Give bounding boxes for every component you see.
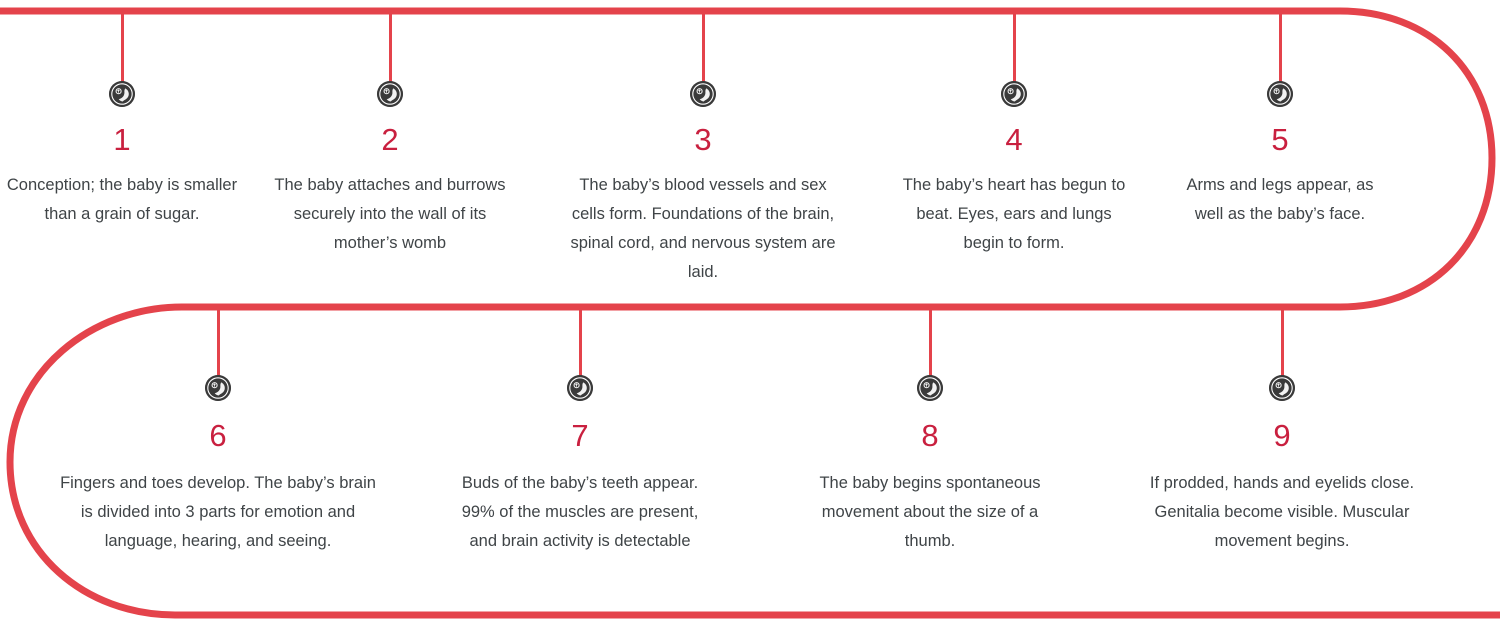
- connector-stem: [702, 11, 705, 83]
- step-number: 8: [800, 419, 1060, 453]
- fetus-icon: [1269, 375, 1295, 401]
- connector-stem: [1013, 11, 1016, 83]
- fetus-icon: [690, 81, 716, 107]
- step-number: 6: [58, 419, 378, 453]
- step-number: 2: [270, 123, 510, 157]
- fetus-icon: [377, 81, 403, 107]
- connector-stem: [579, 307, 582, 377]
- timeline-infographic: 1 Conception; the baby is smaller than a…: [0, 0, 1500, 625]
- fetus-icon: [109, 81, 135, 107]
- step-description: Buds of the baby’s teeth appear. 99% of …: [446, 469, 714, 556]
- fetus-icon: [917, 375, 943, 401]
- fetus-icon: [205, 375, 231, 401]
- step-number: 7: [446, 419, 714, 453]
- step-number: 5: [1170, 123, 1390, 157]
- step-description: The baby begins spontaneous movement abo…: [800, 469, 1060, 556]
- fetus-icon: [1001, 81, 1027, 107]
- step-description: The baby’s blood vessels and sex cells f…: [562, 171, 844, 287]
- step-description: If prodded, hands and eyelids close. Gen…: [1142, 469, 1422, 556]
- connector-stem: [217, 307, 220, 377]
- connector-stem: [121, 11, 124, 83]
- step-description: Fingers and toes develop. The baby’s bra…: [58, 469, 378, 556]
- fetus-icon: [1267, 81, 1293, 107]
- step-number: 4: [894, 123, 1134, 157]
- fetus-icon: [567, 375, 593, 401]
- connector-stem: [1281, 307, 1284, 377]
- connector-stem: [1279, 11, 1282, 83]
- step-number: 1: [2, 123, 242, 157]
- step-description: Conception; the baby is smaller than a g…: [2, 171, 242, 229]
- connector-stem: [929, 307, 932, 377]
- step-number: 9: [1142, 419, 1422, 453]
- step-description: Arms and legs appear, as well as the bab…: [1170, 171, 1390, 229]
- connector-stem: [389, 11, 392, 83]
- step-description: The baby attaches and burrows securely i…: [270, 171, 510, 258]
- step-description: The baby’s heart has begun to beat. Eyes…: [894, 171, 1134, 258]
- step-number: 3: [562, 123, 844, 157]
